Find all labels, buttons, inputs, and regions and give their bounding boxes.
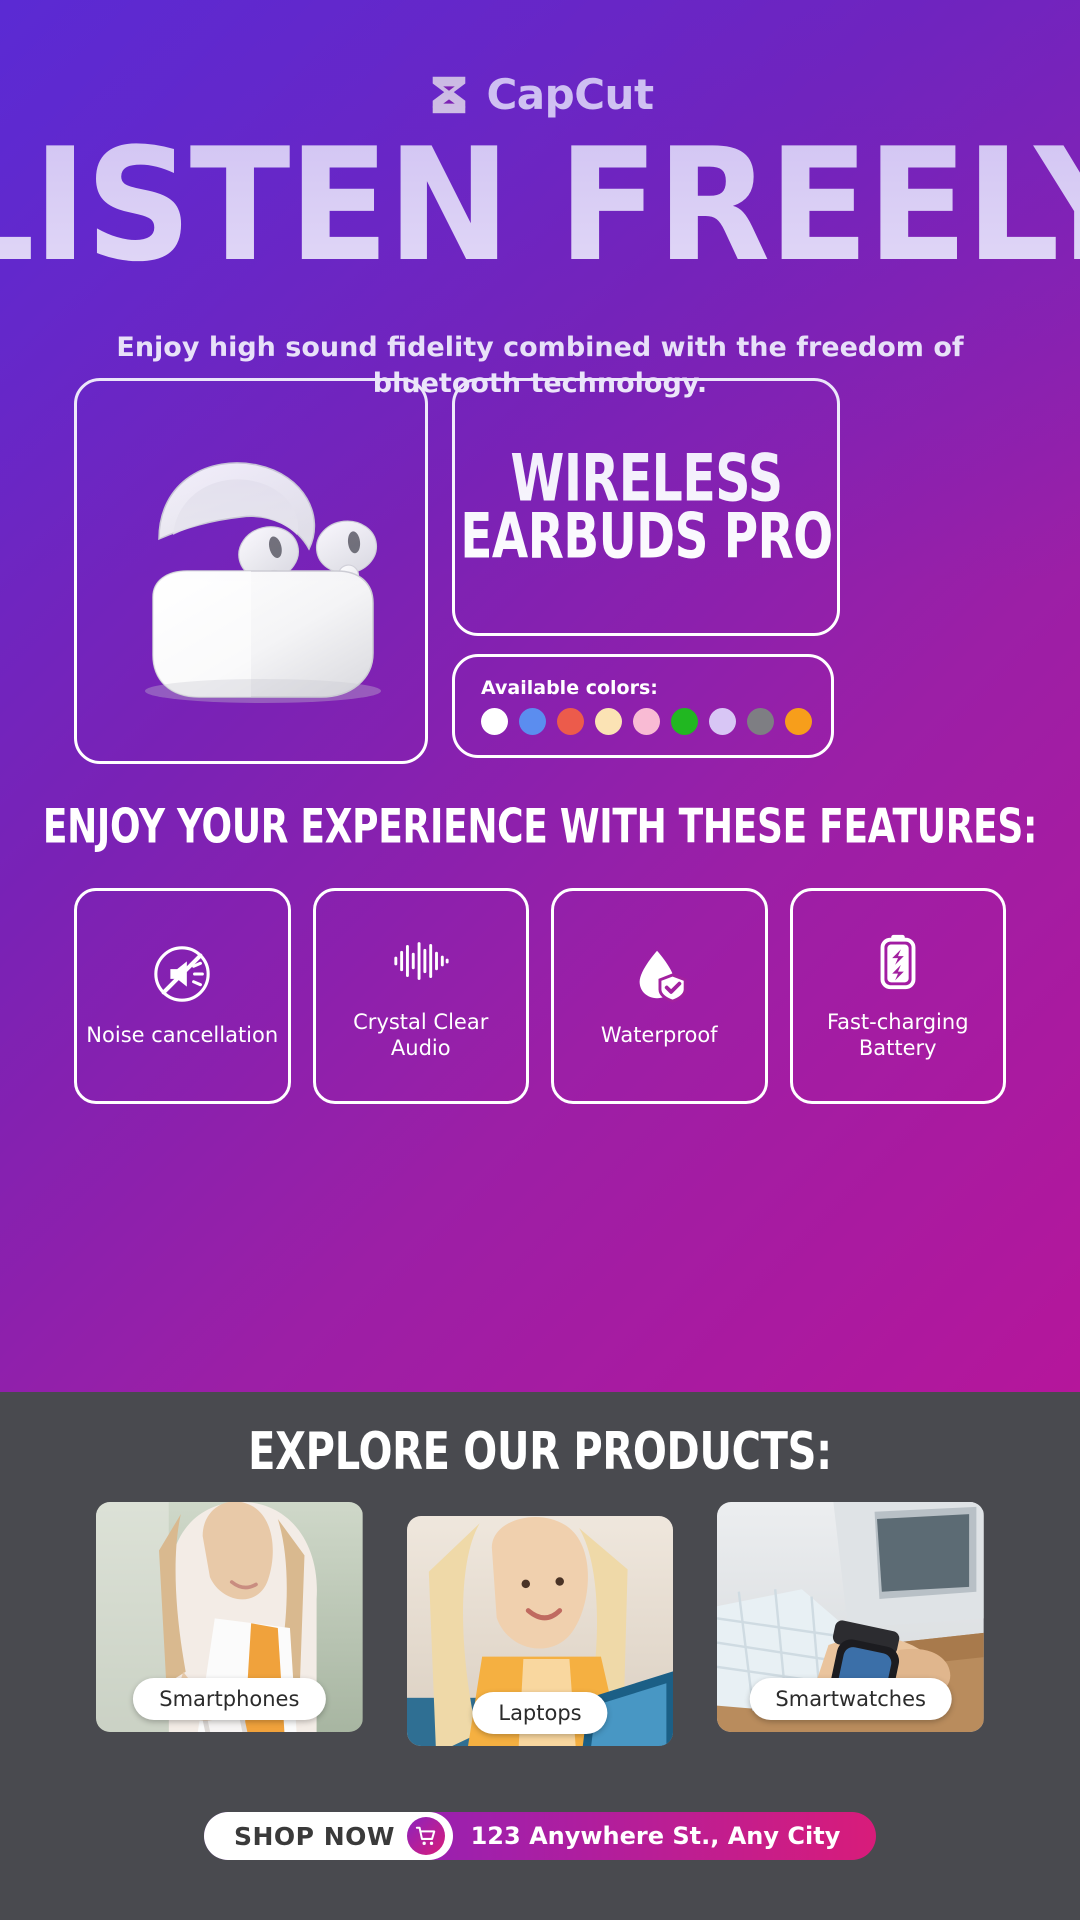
features-heading: ENJOY YOUR EXPERIENCE WITH THESE FEATURE…: [0, 805, 1080, 852]
color-swatch-white[interactable]: [481, 708, 508, 735]
feature-label: Crystal Clear Audio: [324, 1010, 519, 1061]
shopping-cart-icon: [415, 1825, 437, 1847]
available-colors-card: Available colors:: [452, 654, 834, 758]
product-card-smartphones[interactable]: Smartphones: [96, 1502, 363, 1732]
color-swatch-coral[interactable]: [557, 708, 584, 735]
explore-heading: EXPLORE OUR PRODUCTS:: [0, 1426, 1080, 1478]
color-swatch-pink[interactable]: [633, 708, 660, 735]
brand-name: CapCut: [486, 74, 653, 116]
product-card-laptops[interactable]: Laptops: [407, 1516, 674, 1746]
feature-card-crystal-clear-audio[interactable]: Crystal Clear Audio: [313, 888, 530, 1104]
color-swatch-gray[interactable]: [747, 708, 774, 735]
feature-label: Waterproof: [601, 1023, 718, 1049]
hero-section: CapCut LISTEN FREELY Enjoy high sound fi…: [0, 0, 1080, 1392]
feature-label: Fast-charging Battery: [801, 1010, 996, 1061]
product-card-smartwatches[interactable]: Smartwatches: [717, 1502, 984, 1732]
features-grid: Noise cancellation: [74, 888, 1006, 1104]
product-title-card: WIRELESS EARBUDS PRO: [452, 378, 840, 636]
feature-card-waterproof[interactable]: Waterproof: [551, 888, 768, 1104]
capcut-hourglass-icon: [426, 72, 472, 118]
cta-bar[interactable]: SHOP NOW 123 Anywhere St., Any City: [204, 1812, 876, 1860]
color-swatch-lavender[interactable]: [709, 708, 736, 735]
product-image-card: [74, 378, 428, 764]
explore-products-grid: Smartphones: [96, 1502, 984, 1732]
water-drop-shield-icon: [628, 943, 690, 1005]
audio-waveform-icon: [390, 930, 452, 992]
color-swatch-orange[interactable]: [785, 708, 812, 735]
cart-icon-badge: [407, 1817, 445, 1855]
earbuds-case-illustration: [101, 421, 401, 721]
feature-card-noise-cancellation[interactable]: Noise cancellation: [74, 888, 291, 1104]
color-swatch-cream[interactable]: [595, 708, 622, 735]
color-swatch-green[interactable]: [671, 708, 698, 735]
product-title-line2: EARBUDS PRO: [460, 505, 832, 567]
product-label: Laptops: [472, 1692, 607, 1734]
mute-speaker-icon: [151, 943, 213, 1005]
shop-now-button[interactable]: SHOP NOW: [204, 1812, 453, 1860]
cta-address: 123 Anywhere St., Any City: [453, 1822, 876, 1850]
feature-label: Noise cancellation: [86, 1023, 278, 1049]
available-colors-label: Available colors:: [481, 677, 831, 699]
product-label: Smartphones: [133, 1678, 325, 1720]
color-swatch-blue[interactable]: [519, 708, 546, 735]
poster-root: CapCut LISTEN FREELY Enjoy high sound fi…: [0, 0, 1080, 1920]
brand-logo: CapCut: [0, 72, 1080, 118]
shop-now-label: SHOP NOW: [234, 1822, 395, 1851]
battery-charging-icon: [867, 930, 929, 992]
feature-card-fast-charging-battery[interactable]: Fast-charging Battery: [790, 888, 1007, 1104]
product-label: Smartwatches: [749, 1678, 952, 1720]
color-swatch-row: [481, 708, 831, 735]
page-title: LISTEN FREELY: [0, 128, 1080, 284]
